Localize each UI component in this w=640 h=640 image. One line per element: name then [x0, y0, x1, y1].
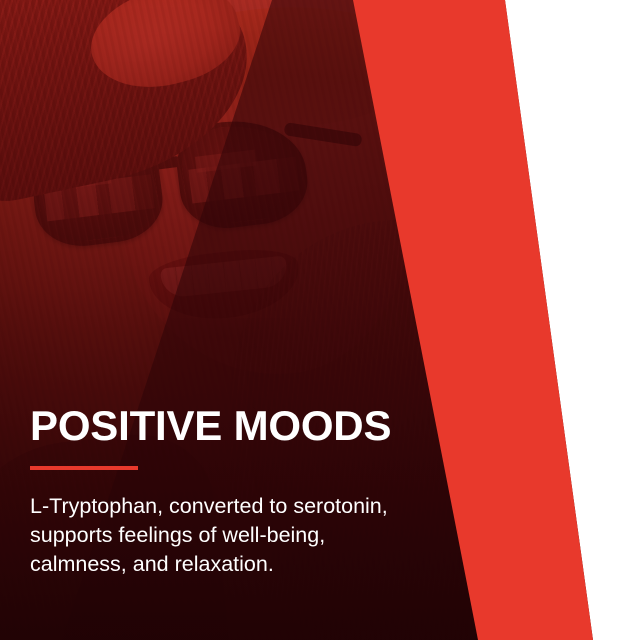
- promo-banner: POSITIVE MOODS L-Tryptophan, converted t…: [0, 0, 640, 640]
- text-block: POSITIVE MOODS L-Tryptophan, converted t…: [30, 404, 470, 579]
- body-line-2: supports feelings of well-being,: [30, 521, 470, 550]
- headline: POSITIVE MOODS: [30, 404, 470, 448]
- body-line-3: calmness, and relaxation.: [30, 550, 470, 579]
- body-line-1: L-Tryptophan, converted to serotonin,: [30, 492, 470, 521]
- body-copy: L-Tryptophan, converted to serotonin, su…: [30, 470, 470, 579]
